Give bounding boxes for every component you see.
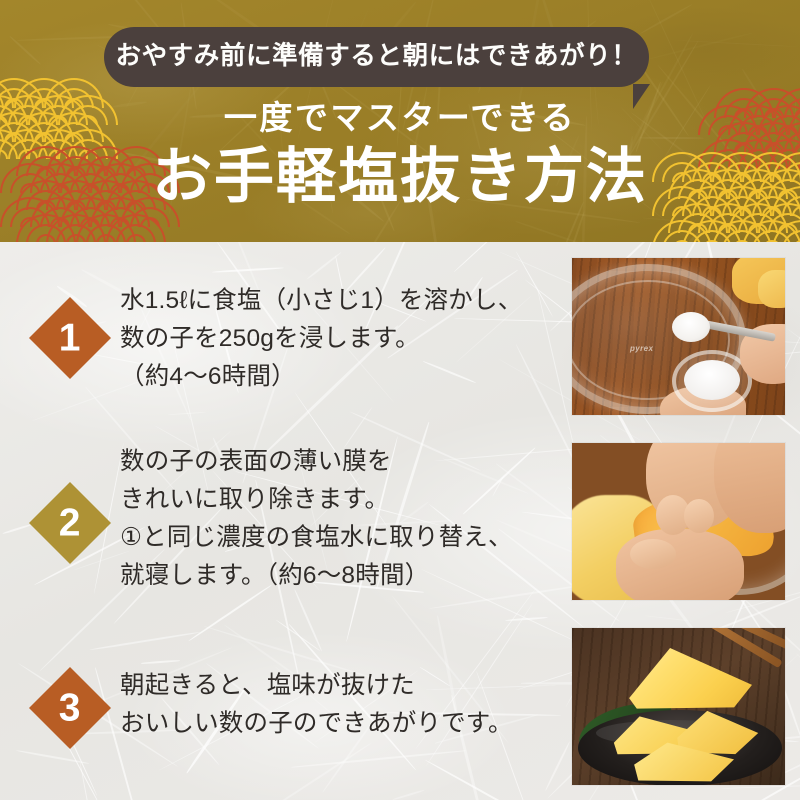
step-2-photo bbox=[572, 443, 785, 600]
infographic-page: おやすみ前に準備すると朝にはできあがり！ 一度でマスターできる お手軽塩抜き方法… bbox=[0, 0, 800, 800]
roe-corner-piece-2 bbox=[758, 270, 785, 308]
step-2-text: 数の子の表面の薄い膜を きれいに取り除きます。 ①と同じ濃度の食塩水に取り替え、… bbox=[120, 443, 513, 595]
header-title: お手軽塩抜き方法 bbox=[0, 145, 800, 210]
step-3-text: 朝起きると、塩味が抜けた おいしい数の子のできあがりです。 bbox=[120, 667, 513, 743]
step-2-line-2: きれいに取り除きます。 bbox=[120, 481, 513, 519]
step-2-line-1: 数の子の表面の薄い膜を bbox=[120, 443, 513, 481]
step-1-line-2: 数の子を250gを浸します。 bbox=[120, 320, 522, 358]
step-1-line-3: （約4〜6時間） bbox=[120, 358, 522, 396]
speech-bubble-tail bbox=[633, 84, 650, 109]
speech-bubble-text: おやすみ前に準備すると朝にはできあがり！ bbox=[115, 44, 637, 70]
header-banner: おやすみ前に準備すると朝にはできあがり！ 一度でマスターできる お手軽塩抜き方法 bbox=[0, 0, 800, 242]
header-subtitle: 一度でマスターできる bbox=[0, 101, 800, 134]
step-1-number: 1 bbox=[59, 318, 81, 357]
steps-section: 1 水1.5ℓに食塩（小さじ1）を溶かし、 数の子を250gを浸します。 （約4… bbox=[0, 242, 800, 800]
measuring-spoon-with-salt bbox=[672, 312, 710, 342]
speech-bubble: おやすみ前に準備すると朝にはできあがり！ bbox=[104, 27, 649, 87]
step-1-line-1: 水1.5ℓに食塩（小さじ1）を溶かし、 bbox=[120, 282, 522, 320]
step-3-line-1: 朝起きると、塩味が抜けた bbox=[120, 667, 513, 705]
step-2-number: 2 bbox=[59, 503, 81, 542]
step-2-line-3: ①と同じ濃度の食塩水に取り替え、 bbox=[120, 519, 513, 557]
step-1-photo: pyrex bbox=[572, 258, 785, 415]
lower-hand bbox=[616, 529, 744, 600]
thumb-lower bbox=[630, 539, 676, 569]
step-3-line-2: おいしい数の子のできあがりです。 bbox=[120, 705, 513, 743]
pyrex-brand-mark: pyrex bbox=[630, 344, 653, 353]
salt-in-bowl bbox=[684, 360, 740, 400]
step-1-text: 水1.5ℓに食塩（小さじ1）を溶かし、 数の子を250gを浸します。 （約4〜6… bbox=[120, 282, 522, 396]
step-3-number: 3 bbox=[59, 688, 81, 727]
thumb-upper bbox=[684, 499, 714, 533]
step-3-photo bbox=[572, 628, 785, 785]
step-2-line-4: 就寝します。（約6〜8時間） bbox=[120, 557, 513, 595]
